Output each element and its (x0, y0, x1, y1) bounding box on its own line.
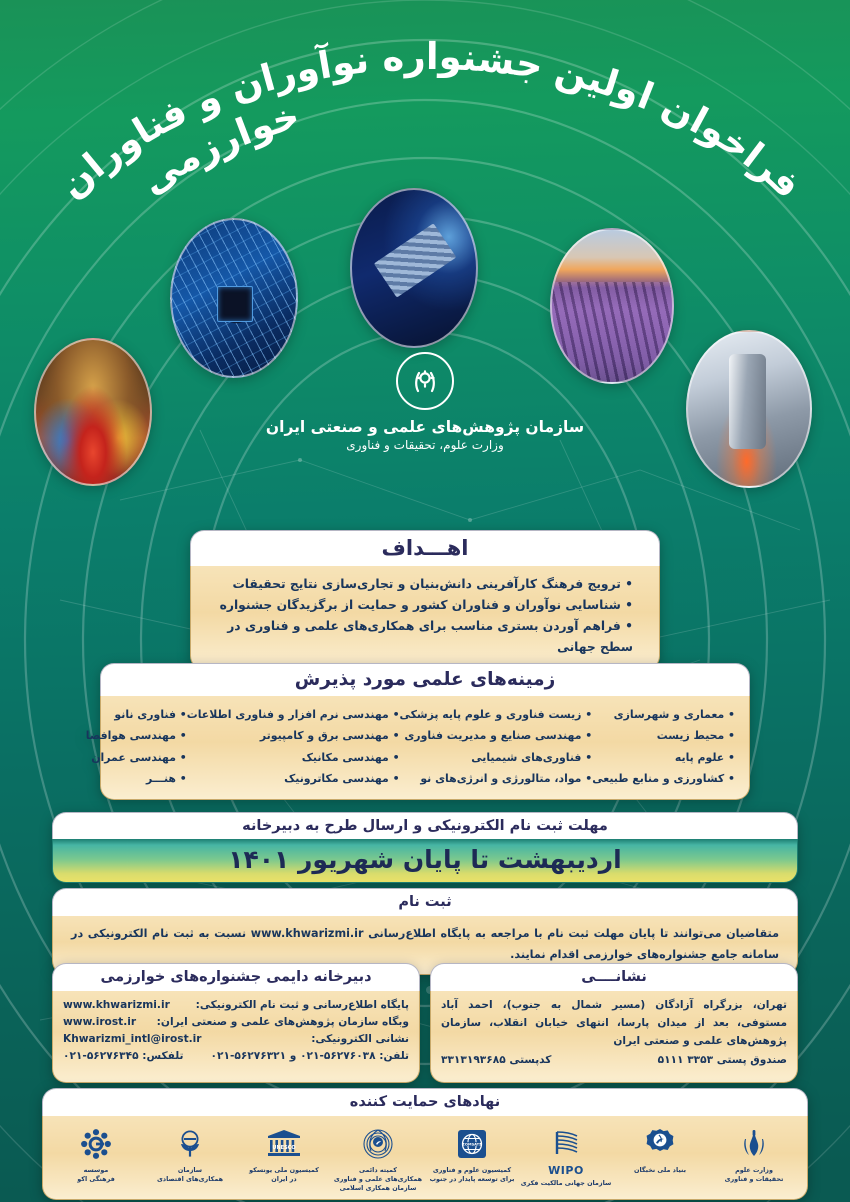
objectives-title: اهـــداف (190, 530, 660, 566)
iran-emblem-icon (707, 1124, 801, 1164)
sponsor-caption: سازمان همکاری‌های اقتصادی (143, 1166, 237, 1184)
fields-column: • معماری و شهرسازی • محیط زیست • علوم پا… (592, 704, 735, 789)
registration-title: ثبت نام (52, 888, 798, 916)
field-item: • فناوری‌های شیمیایی (400, 747, 593, 768)
sponsors-body: وزارت علوم تحقیقات و فناوری بنیاد ملی ن (42, 1116, 808, 1200)
registration-text: متقاضیان می‌توانند تا پایان مهلت ثبت نام… (71, 924, 779, 965)
sponsor-item: موسسه فرهنگی اکو (49, 1124, 143, 1193)
organization-name: سازمان پژوهش‌های علمی و صنعتی ایران (0, 418, 850, 436)
field-item: • مهندسی برق و کامپیوتر (187, 725, 400, 746)
field-item: • مهندسی هوافضا (86, 725, 187, 746)
hands-gear-icon (396, 352, 454, 410)
fields-column: • زیست فناوری و علوم پایه پزشکی • مهندسی… (400, 704, 593, 789)
secretariat-email-link[interactable]: Khwarizmi_intl@irost.ir (63, 1031, 202, 1048)
nokhbegan-foundation-icon (613, 1124, 707, 1164)
field-item: • علوم پایه (592, 747, 735, 768)
secretariat-label: پایگاه اطلاع‌رسانی و ثبت نام الکترونیکی: (196, 997, 409, 1014)
organization-block: سازمان پژوهش‌های علمی و صنعتی ایران وزار… (0, 352, 850, 452)
address-body: تهران، بزرگراه آزادگان (مسیر شمال به جنو… (430, 991, 798, 1083)
svg-text:UNESCO: UNESCO (272, 1145, 295, 1151)
unesco-icon: UNESCO (237, 1124, 331, 1164)
secretariat-website-link[interactable]: www.khwarizmi.ir (63, 997, 170, 1014)
deadline-value: اردیبهشت تا پایان شهریور ۱۴۰۱ (52, 839, 798, 883)
sponsor-item: WIPO سازمان جهانی مالکیت فکری (519, 1124, 613, 1193)
sponsor-item: UNESCO کمیسیون ملی یونسکو در ایران (237, 1124, 331, 1193)
field-item: • کشاورزی و منابع طبیعی (592, 768, 735, 789)
secretariat-card: دبیرخانه دایمی جشنواره‌های خوارزمی پایگا… (52, 963, 420, 1083)
sponsor-caption: موسسه فرهنگی اکو (49, 1166, 143, 1184)
secretariat-row: تلفن: ۵۶۲۷۶۰۳۸-۰۲۱ و ۵۶۲۷۶۳۲۱-۰۲۱ تلفکس:… (63, 1048, 409, 1065)
fields-card: زمینه‌های علمی مورد پذیرش • معماری و شهر… (100, 663, 750, 800)
objective-item: • فراهم آوردن بستری مناسب برای همکاری‌ها… (217, 616, 633, 658)
field-item: • مهندسی صنایع و مدیریت فناوری (400, 725, 593, 746)
fields-title: زمینه‌های علمی مورد پذیرش (100, 663, 750, 696)
sponsors-title: نهادهای حمایت کننده (42, 1088, 808, 1116)
sponsor-wipo-label: WIPO (519, 1164, 613, 1177)
sponsor-item: کمیته دائمی همکاری‌های علمی و فناوری ساز… (331, 1124, 425, 1193)
deadline-card: مهلت ثبت نام الکترونیکی و ارسال طرح به د… (52, 812, 798, 883)
objectives-body: • ترویج فرهنگ کارآفرینی دانش‌بنیان و تجا… (190, 566, 660, 670)
field-item: • مواد، متالورژی و انرژی‌های نو (400, 768, 593, 789)
field-item: • محیط زیست (592, 725, 735, 746)
eco-cultural-institute-icon (49, 1124, 143, 1164)
fields-column: • مهندسی نرم افزار و فناوری اطلاعات • مه… (187, 704, 400, 789)
objective-item: • شناسایی نوآوران و فناوران کشور و حمایت… (217, 595, 633, 616)
address-card: نشانــــی تهران، بزرگراه آزادگان (مسیر ش… (430, 963, 798, 1083)
wipo-icon (519, 1124, 613, 1164)
address-title: نشانــــی (430, 963, 798, 991)
comsats-globe-icon: COMSATS (425, 1124, 519, 1164)
postcode: کدپستی ۳۳۱۳۱۹۳۶۸۵ (441, 1052, 551, 1069)
fields-body: • معماری و شهرسازی • محیط زیست • علوم پا… (100, 696, 750, 800)
objectives-card: اهـــداف • ترویج فرهنگ کارآفرینی دانش‌بن… (190, 530, 660, 670)
satellite-photo (350, 188, 478, 348)
eco-organization-icon (143, 1124, 237, 1164)
sponsor-caption: وزارت علوم تحقیقات و فناوری (707, 1166, 801, 1184)
sponsor-caption: بنیاد ملی نخبگان (613, 1166, 707, 1175)
address-text: تهران، بزرگراه آزادگان (مسیر شمال به جنو… (441, 997, 787, 1050)
secretariat-org-link[interactable]: www.irost.ir (63, 1014, 136, 1031)
field-item: • مهندسی عمران (86, 747, 187, 768)
poster-root: فراخوان اولین جشنواره نوآوران و فناوران … (0, 0, 850, 1202)
secretariat-body: پایگاه اطلاع‌رسانی و ثبت نام الکترونیکی:… (52, 991, 420, 1083)
sponsor-caption: سازمان جهانی مالکیت فکری (519, 1179, 613, 1188)
sponsor-item: وزارت علوم تحقیقات و فناوری (707, 1124, 801, 1193)
secretariat-fax: تلفکس: ۵۶۲۷۶۳۴۵-۰۲۱ (63, 1048, 184, 1065)
sponsor-caption: کمیسیون علوم و فناوری برای توسعه پایدار … (425, 1166, 519, 1184)
secretariat-label: نشانی الکترونیکی: (311, 1031, 409, 1048)
field-item: • هنـــر (86, 768, 187, 789)
sponsor-caption: کمیته دائمی همکاری‌های علمی و فناوری ساز… (331, 1166, 425, 1193)
secretariat-row: پایگاه اطلاع‌رسانی و ثبت نام الکترونیکی:… (63, 997, 409, 1014)
oic-comstech-icon (331, 1124, 425, 1164)
sponsor-item: بنیاد ملی نخبگان (613, 1124, 707, 1193)
svg-text:COMSATS: COMSATS (462, 1142, 482, 1146)
fields-column: • فناوری نانو • مهندسی هوافضا • مهندسی ع… (86, 704, 187, 789)
secretariat-row: وبگاه سازمان پژوهش‌های علمی و صنعتی ایرا… (63, 1014, 409, 1031)
secretariat-label: وبگاه سازمان پژوهش‌های علمی و صنعتی ایرا… (157, 1014, 409, 1031)
deadline-title: مهلت ثبت نام الکترونیکی و ارسال طرح به د… (52, 812, 798, 839)
sponsor-caption: کمیسیون ملی یونسکو در ایران (237, 1166, 331, 1184)
secretariat-phone: تلفن: ۵۶۲۷۶۰۳۸-۰۲۱ و ۵۶۲۷۶۳۲۱-۰۲۱ (211, 1048, 409, 1065)
sponsor-item: COMSATS کمیسیون علوم و فناوری برای توسعه… (425, 1124, 519, 1193)
address-codes-row: صندوق پستی ۳۳۵۳ ۵۱۱۱ کدپستی ۳۳۱۳۱۹۳۶۸۵ (441, 1052, 787, 1069)
secretariat-row: نشانی الکترونیکی: Khwarizmi_intl@irost.i… (63, 1031, 409, 1048)
field-item: • مهندسی مکانیک (187, 747, 400, 768)
objective-item: • ترویج فرهنگ کارآفرینی دانش‌بنیان و تجا… (217, 574, 633, 595)
sponsor-item: سازمان همکاری‌های اقتصادی (143, 1124, 237, 1193)
organization-ministry: وزارت علوم، تحقیقات و فناوری (0, 438, 850, 452)
sponsors-card: نهادهای حمایت کننده وزارت علوم تحقیقات و… (42, 1088, 808, 1200)
field-item: • مهندسی مکاترونیک (187, 768, 400, 789)
field-item: • زیست فناوری و علوم پایه پزشکی (400, 704, 593, 725)
field-item: • مهندسی نرم افزار و فناوری اطلاعات (187, 704, 400, 725)
field-item: • فناوری نانو (86, 704, 187, 725)
pobox: صندوق پستی ۳۳۵۳ ۵۱۱۱ (658, 1052, 787, 1069)
secretariat-title: دبیرخانه دایمی جشنواره‌های خوارزمی (52, 963, 420, 991)
field-item: • معماری و شهرسازی (592, 704, 735, 725)
